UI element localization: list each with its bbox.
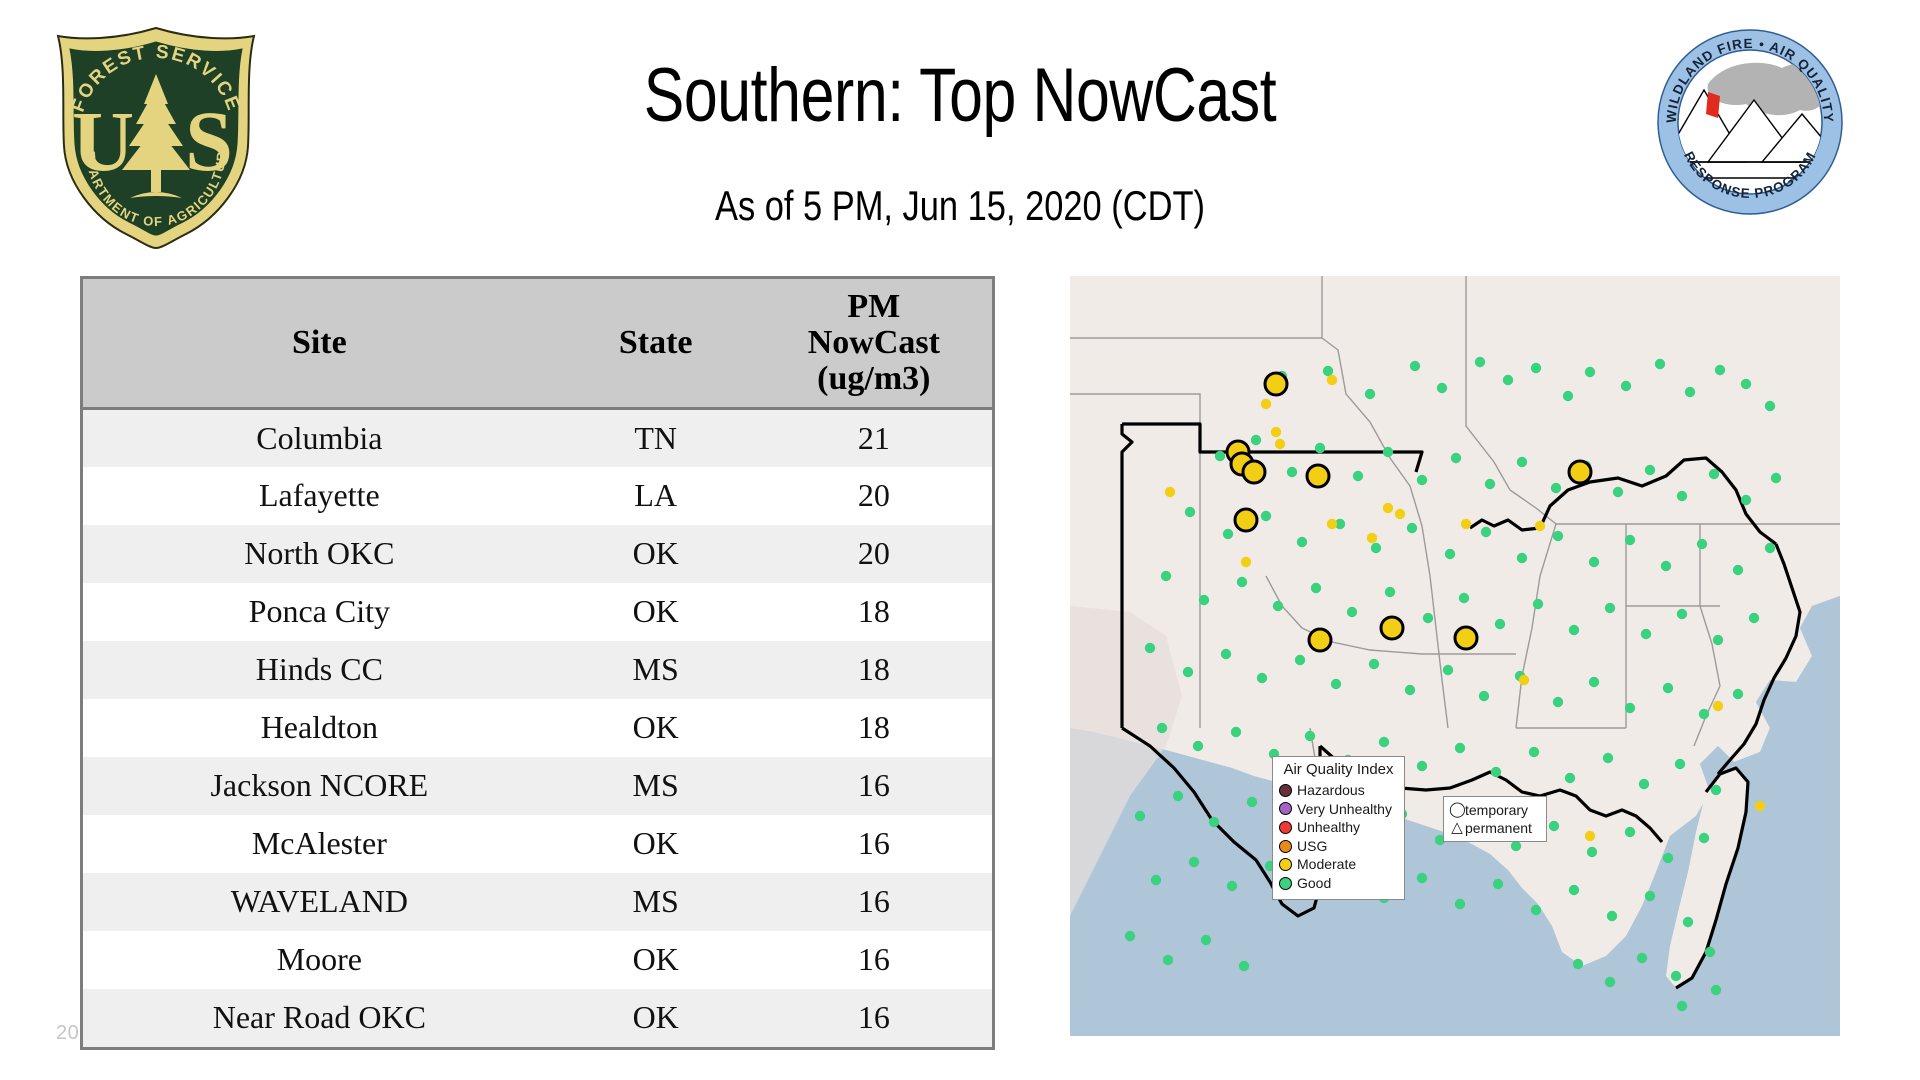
monitor-dot-good[interactable] bbox=[1145, 643, 1155, 653]
monitor-dot-moderate[interactable] bbox=[1383, 503, 1393, 513]
state-cell: OK bbox=[556, 583, 756, 641]
air-quality-map[interactable] bbox=[1070, 276, 1840, 1036]
monitor-dot-good[interactable] bbox=[1569, 885, 1579, 895]
monitor-dot-good[interactable] bbox=[1637, 953, 1647, 963]
state-cell: LA bbox=[556, 467, 756, 525]
monitor-dot-good[interactable] bbox=[1589, 557, 1599, 567]
aqi-swatch-icon bbox=[1279, 840, 1292, 853]
monitor-dot-top-site[interactable] bbox=[1569, 461, 1591, 483]
monitor-dot-good[interactable] bbox=[1135, 811, 1145, 821]
aqi-swatch-icon bbox=[1279, 784, 1292, 797]
monitor-dot-top-site[interactable] bbox=[1307, 465, 1329, 487]
monitor-dot-good[interactable] bbox=[1311, 583, 1321, 593]
monitor-dot-good[interactable] bbox=[1451, 453, 1461, 463]
monitor-dot-good[interactable] bbox=[1287, 467, 1297, 477]
monitor-dot-good[interactable] bbox=[1161, 571, 1171, 581]
monitor-dot-good[interactable] bbox=[1711, 785, 1721, 795]
monitor-dot-good[interactable] bbox=[1677, 609, 1687, 619]
monitor-dot-moderate[interactable] bbox=[1585, 831, 1595, 841]
monitor-dot-good[interactable] bbox=[1365, 389, 1375, 399]
table-row: LafayetteLA20 bbox=[83, 467, 992, 525]
aqi-legend-label: Moderate bbox=[1297, 855, 1356, 874]
monitor-dot-good[interactable] bbox=[1385, 587, 1395, 597]
monitor-dot-good[interactable] bbox=[1371, 543, 1381, 553]
aqi-legend-label: Unhealthy bbox=[1297, 818, 1360, 837]
pm-nowcast-cell: 20 bbox=[756, 525, 992, 583]
monitor-dot-good[interactable] bbox=[1369, 659, 1379, 669]
column-header-pm-nowcast: PM NowCast (ug/m3) bbox=[756, 279, 992, 409]
monitor-dot-good[interactable] bbox=[1589, 677, 1599, 687]
monitor-dot-good[interactable] bbox=[1749, 613, 1759, 623]
state-cell: MS bbox=[556, 873, 756, 931]
table-row: ColumbiaTN21 bbox=[83, 409, 992, 467]
site-cell: Near Road OKC bbox=[83, 989, 556, 1047]
table-row: Hinds CCMS18 bbox=[83, 641, 992, 699]
page-subtitle: As of 5 PM, Jun 15, 2020 (CDT) bbox=[419, 182, 1501, 230]
table-row: Jackson NCOREMS16 bbox=[83, 757, 992, 815]
monitor-dot-good[interactable] bbox=[1697, 539, 1707, 549]
monitor-dot-moderate[interactable] bbox=[1241, 557, 1251, 567]
monitor-dot-good[interactable] bbox=[1625, 535, 1635, 545]
monitor-dot-good[interactable] bbox=[1125, 931, 1135, 941]
site-type-legend: ◯ temporary △ permanent bbox=[1443, 796, 1547, 842]
state-cell: OK bbox=[556, 815, 756, 873]
monitor-dot-good[interactable] bbox=[1379, 737, 1389, 747]
monitor-dot-good[interactable] bbox=[1189, 857, 1199, 867]
monitor-dot-good[interactable] bbox=[1765, 401, 1775, 411]
monitor-dot-good[interactable] bbox=[1605, 977, 1615, 987]
monitor-dot-good[interactable] bbox=[1455, 743, 1465, 753]
monitor-dot-moderate[interactable] bbox=[1327, 375, 1337, 385]
monitor-dot-good[interactable] bbox=[1495, 619, 1505, 629]
aqi-legend: Air Quality Index HazardousVery Unhealth… bbox=[1272, 756, 1405, 900]
monitor-dot-moderate[interactable] bbox=[1535, 521, 1545, 531]
aqi-legend-label: Good bbox=[1297, 874, 1331, 893]
top-nowcast-table: Site State PM NowCast (ug/m3) ColumbiaTN… bbox=[83, 279, 992, 1047]
aqi-legend-item: Very Unhealthy bbox=[1279, 800, 1398, 819]
monitor-dot-good[interactable] bbox=[1347, 607, 1357, 617]
monitor-dot-good[interactable] bbox=[1741, 495, 1751, 505]
monitor-dot-good[interactable] bbox=[1709, 469, 1719, 479]
monitor-dot-moderate[interactable] bbox=[1327, 519, 1337, 529]
monitor-dot-good[interactable] bbox=[1587, 847, 1597, 857]
state-cell: MS bbox=[556, 757, 756, 815]
monitor-dot-good[interactable] bbox=[1711, 985, 1721, 995]
aqi-legend-label: USG bbox=[1297, 837, 1327, 856]
monitor-dot-good[interactable] bbox=[1199, 595, 1209, 605]
monitor-dot-good[interactable] bbox=[1517, 553, 1527, 563]
monitor-dot-good[interactable] bbox=[1443, 665, 1453, 675]
monitor-dot-moderate[interactable] bbox=[1395, 509, 1405, 519]
monitor-dot-top-site[interactable] bbox=[1243, 461, 1265, 483]
monitor-dot-good[interactable] bbox=[1663, 853, 1673, 863]
aqi-legend-item: Good bbox=[1279, 874, 1398, 893]
pm-nowcast-cell: 16 bbox=[756, 989, 992, 1047]
monitor-dot-good[interactable] bbox=[1185, 507, 1195, 517]
table-row: WAVELANDMS16 bbox=[83, 873, 992, 931]
usfs-shield-logo: U S FOREST SERVICE DEPARTMENT OF AGRICUL… bbox=[46, 22, 266, 252]
monitor-dot-good[interactable] bbox=[1201, 935, 1211, 945]
monitor-dot-good[interactable] bbox=[1549, 821, 1559, 831]
monitor-dot-good[interactable] bbox=[1417, 475, 1427, 485]
monitor-dot-top-site[interactable] bbox=[1235, 509, 1257, 531]
monitor-dot-good[interactable] bbox=[1677, 491, 1687, 501]
monitor-dot-good[interactable] bbox=[1417, 761, 1427, 771]
monitor-dot-good[interactable] bbox=[1531, 363, 1541, 373]
monitor-dot-good[interactable] bbox=[1407, 523, 1417, 533]
monitor-dot-moderate[interactable] bbox=[1271, 427, 1281, 437]
monitor-dot-good[interactable] bbox=[1173, 791, 1183, 801]
monitor-dot-good[interactable] bbox=[1663, 683, 1673, 693]
aqi-legend-item: Hazardous bbox=[1279, 781, 1398, 800]
wfaqrp-circle-logo: WILDLAND FIRE • AIR QUALITY RESPONSE PRO… bbox=[1650, 22, 1850, 222]
monitor-dot-good[interactable] bbox=[1765, 543, 1775, 553]
monitor-dot-good[interactable] bbox=[1645, 465, 1655, 475]
monitor-dot-moderate[interactable] bbox=[1713, 701, 1723, 711]
monitor-dot-good[interactable] bbox=[1641, 629, 1651, 639]
monitor-dot-top-site[interactable] bbox=[1381, 617, 1403, 639]
aqi-legend-title: Air Quality Index bbox=[1279, 761, 1398, 778]
monitor-dot-good[interactable] bbox=[1603, 753, 1613, 763]
monitor-dot-good[interactable] bbox=[1261, 511, 1271, 521]
monitor-dot-good[interactable] bbox=[1405, 685, 1415, 695]
table-row: MooreOK16 bbox=[83, 931, 992, 989]
pm-header-line-3: (ug/m3) bbox=[760, 361, 988, 397]
site-cell: Hinds CC bbox=[83, 641, 556, 699]
monitor-dot-good[interactable] bbox=[1625, 827, 1635, 837]
monitor-dot-good[interactable] bbox=[1565, 773, 1575, 783]
aqi-legend-label: Hazardous bbox=[1297, 781, 1365, 800]
page-title: Southern: Top NowCast bbox=[432, 52, 1488, 139]
pm-nowcast-cell: 18 bbox=[756, 583, 992, 641]
monitor-dot-good[interactable] bbox=[1445, 549, 1455, 559]
monitor-dot-good[interactable] bbox=[1251, 435, 1261, 445]
monitor-dot-good[interactable] bbox=[1771, 473, 1781, 483]
pm-nowcast-cell: 16 bbox=[756, 815, 992, 873]
table-body: ColumbiaTN21LafayetteLA20North OKCOK20Po… bbox=[83, 409, 992, 1047]
site-cell: North OKC bbox=[83, 525, 556, 583]
site-cell: McAlester bbox=[83, 815, 556, 873]
monitor-dot-good[interactable] bbox=[1231, 727, 1241, 737]
monitor-dot-good[interactable] bbox=[1699, 709, 1709, 719]
monitor-dot-moderate[interactable] bbox=[1275, 439, 1285, 449]
monitor-dot-good[interactable] bbox=[1223, 529, 1233, 539]
monitor-dot-moderate[interactable] bbox=[1519, 675, 1529, 685]
monitor-dot-moderate[interactable] bbox=[1165, 487, 1175, 497]
site-type-permanent-label: permanent bbox=[1465, 820, 1532, 837]
pm-header-line-1: PM bbox=[760, 289, 988, 325]
aqi-swatch-icon bbox=[1279, 858, 1292, 871]
monitor-dot-good[interactable] bbox=[1417, 873, 1427, 883]
slide-canvas: U S FOREST SERVICE DEPARTMENT OF AGRICUL… bbox=[0, 0, 1920, 1080]
monitor-dot-good[interactable] bbox=[1459, 593, 1469, 603]
monitor-dot-good[interactable] bbox=[1503, 375, 1513, 385]
state-cell: TN bbox=[556, 409, 756, 467]
circle-icon: ◯ bbox=[1449, 801, 1465, 819]
monitor-dot-good[interactable] bbox=[1705, 947, 1715, 957]
pm-nowcast-cell: 16 bbox=[756, 931, 992, 989]
state-cell: OK bbox=[556, 525, 756, 583]
pm-header-line-2: NowCast bbox=[760, 325, 988, 361]
monitor-dot-good[interactable] bbox=[1383, 447, 1393, 457]
monitor-dot-good[interactable] bbox=[1573, 959, 1583, 969]
site-cell: Moore bbox=[83, 931, 556, 989]
site-cell: Columbia bbox=[83, 409, 556, 467]
triangle-icon: △ bbox=[1449, 819, 1465, 837]
monitor-dot-good[interactable] bbox=[1183, 667, 1193, 677]
monitor-dot-good[interactable] bbox=[1410, 361, 1420, 371]
monitor-dot-moderate[interactable] bbox=[1367, 533, 1377, 543]
table-row: Ponca CityOK18 bbox=[83, 583, 992, 641]
column-header-site: Site bbox=[83, 279, 556, 409]
monitor-dot-moderate[interactable] bbox=[1261, 399, 1271, 409]
column-header-state: State bbox=[556, 279, 756, 409]
monitor-dot-good[interactable] bbox=[1585, 367, 1595, 377]
monitor-dot-top-site[interactable] bbox=[1265, 373, 1287, 395]
aqi-legend-item: Moderate bbox=[1279, 855, 1398, 874]
monitor-dot-good[interactable] bbox=[1517, 457, 1527, 467]
monitor-dot-good[interactable] bbox=[1713, 635, 1723, 645]
site-type-temporary-label: temporary bbox=[1465, 802, 1528, 819]
monitor-dot-good[interactable] bbox=[1257, 673, 1267, 683]
monitor-dot-good[interactable] bbox=[1297, 537, 1307, 547]
aqi-swatch-icon bbox=[1279, 802, 1292, 815]
site-type-temporary: ◯ temporary bbox=[1449, 801, 1541, 819]
monitor-dot-good[interactable] bbox=[1157, 723, 1167, 733]
monitor-dot-good[interactable] bbox=[1675, 759, 1685, 769]
monitor-dot-good[interactable] bbox=[1607, 911, 1617, 921]
monitor-dot-good[interactable] bbox=[1613, 487, 1623, 497]
aqi-swatch-icon bbox=[1279, 821, 1292, 834]
aqi-legend-label: Very Unhealthy bbox=[1297, 800, 1392, 819]
monitor-dot-good[interactable] bbox=[1553, 531, 1563, 541]
aqi-legend-item: Unhealthy bbox=[1279, 818, 1398, 837]
monitor-dot-good[interactable] bbox=[1733, 689, 1743, 699]
monitor-dot-good[interactable] bbox=[1605, 603, 1615, 613]
monitor-dot-good[interactable] bbox=[1193, 741, 1203, 751]
monitor-dot-good[interactable] bbox=[1493, 879, 1503, 889]
monitor-dot-good[interactable] bbox=[1273, 601, 1283, 611]
monitor-dot-top-site[interactable] bbox=[1455, 627, 1477, 649]
monitor-dot-good[interactable] bbox=[1569, 625, 1579, 635]
monitor-dot-good[interactable] bbox=[1639, 779, 1649, 789]
monitor-dot-good[interactable] bbox=[1315, 443, 1325, 453]
site-cell: Jackson NCORE bbox=[83, 757, 556, 815]
monitor-dot-good[interactable] bbox=[1423, 613, 1433, 623]
state-cell: OK bbox=[556, 931, 756, 989]
monitor-dot-good[interactable] bbox=[1305, 731, 1315, 741]
site-cell: Healdton bbox=[83, 699, 556, 757]
state-cell: OK bbox=[556, 699, 756, 757]
monitor-dot-good[interactable] bbox=[1295, 655, 1305, 665]
pm-nowcast-cell: 20 bbox=[756, 467, 992, 525]
monitor-dot-good[interactable] bbox=[1645, 891, 1655, 901]
monitor-dot-good[interactable] bbox=[1621, 381, 1631, 391]
table-row: North OKCOK20 bbox=[83, 525, 992, 583]
monitor-dot-good[interactable] bbox=[1685, 387, 1695, 397]
monitor-dot-good[interactable] bbox=[1163, 955, 1173, 965]
monitor-dot-good[interactable] bbox=[1481, 527, 1491, 537]
monitor-dot-good[interactable] bbox=[1323, 366, 1333, 376]
monitor-dot-good[interactable] bbox=[1715, 365, 1725, 375]
monitor-dot-good[interactable] bbox=[1491, 767, 1501, 777]
site-type-permanent: △ permanent bbox=[1449, 819, 1541, 837]
site-cell: Lafayette bbox=[83, 467, 556, 525]
monitor-dot-good[interactable] bbox=[1353, 471, 1363, 481]
monitor-dot-good[interactable] bbox=[1677, 1001, 1687, 1011]
pm-nowcast-cell: 16 bbox=[756, 757, 992, 815]
monitor-dot-good[interactable] bbox=[1475, 357, 1485, 367]
pm-nowcast-cell: 16 bbox=[756, 873, 992, 931]
monitor-dot-top-site[interactable] bbox=[1309, 629, 1331, 651]
monitor-dot-good[interactable] bbox=[1227, 881, 1237, 891]
monitor-dot-good[interactable] bbox=[1221, 649, 1231, 659]
monitor-dot-good[interactable] bbox=[1733, 565, 1743, 575]
monitor-dot-good[interactable] bbox=[1529, 747, 1539, 757]
monitor-dot-moderate[interactable] bbox=[1755, 801, 1765, 811]
table-row: HealdtonOK18 bbox=[83, 699, 992, 757]
monitor-dot-good[interactable] bbox=[1209, 817, 1219, 827]
monitor-dot-good[interactable] bbox=[1531, 905, 1541, 915]
monitor-dot-good[interactable] bbox=[1215, 451, 1225, 461]
monitor-dot-good[interactable] bbox=[1699, 833, 1709, 843]
monitor-dot-good[interactable] bbox=[1237, 577, 1247, 587]
monitor-dot-good[interactable] bbox=[1455, 899, 1465, 909]
monitor-dot-good[interactable] bbox=[1151, 875, 1161, 885]
table-row: Near Road OKCOK16 bbox=[83, 989, 992, 1047]
monitor-dot-good[interactable] bbox=[1625, 703, 1635, 713]
aqi-legend-item: USG bbox=[1279, 837, 1398, 856]
monitor-dot-good[interactable] bbox=[1655, 359, 1665, 369]
monitor-dot-good[interactable] bbox=[1331, 679, 1341, 689]
pm-nowcast-cell: 18 bbox=[756, 641, 992, 699]
table-row: McAlesterOK16 bbox=[83, 815, 992, 873]
aqi-swatch-icon bbox=[1279, 877, 1292, 890]
monitor-dot-good[interactable] bbox=[1479, 691, 1489, 701]
monitor-dot-good[interactable] bbox=[1485, 479, 1495, 489]
flame-icon bbox=[1706, 92, 1720, 118]
pm-nowcast-cell: 18 bbox=[756, 699, 992, 757]
site-cell: WAVELAND bbox=[83, 873, 556, 931]
monitor-dot-good[interactable] bbox=[1553, 697, 1563, 707]
monitor-dot-good[interactable] bbox=[1563, 391, 1573, 401]
monitor-dot-good[interactable] bbox=[1661, 561, 1671, 571]
state-cell: MS bbox=[556, 641, 756, 699]
monitor-dot-good[interactable] bbox=[1741, 379, 1751, 389]
monitor-dot-moderate[interactable] bbox=[1461, 519, 1471, 529]
state-cell: OK bbox=[556, 989, 756, 1047]
monitor-dot-good[interactable] bbox=[1683, 917, 1693, 927]
site-cell: Ponca City bbox=[83, 583, 556, 641]
monitor-dot-good[interactable] bbox=[1533, 599, 1543, 609]
monitor-dot-good[interactable] bbox=[1511, 841, 1521, 851]
top-nowcast-table-container: Site State PM NowCast (ug/m3) ColumbiaTN… bbox=[80, 276, 995, 1050]
monitor-dot-good[interactable] bbox=[1239, 961, 1249, 971]
monitor-dot-good[interactable] bbox=[1247, 797, 1257, 807]
monitor-dot-good[interactable] bbox=[1671, 971, 1681, 981]
monitor-dot-good[interactable] bbox=[1437, 383, 1447, 393]
aqi-legend-list: HazardousVery UnhealthyUnhealthyUSGModer… bbox=[1279, 781, 1398, 893]
monitor-dot-good[interactable] bbox=[1551, 483, 1561, 493]
pm-nowcast-cell: 21 bbox=[756, 409, 992, 467]
table-header-row: Site State PM NowCast (ug/m3) bbox=[83, 279, 992, 409]
